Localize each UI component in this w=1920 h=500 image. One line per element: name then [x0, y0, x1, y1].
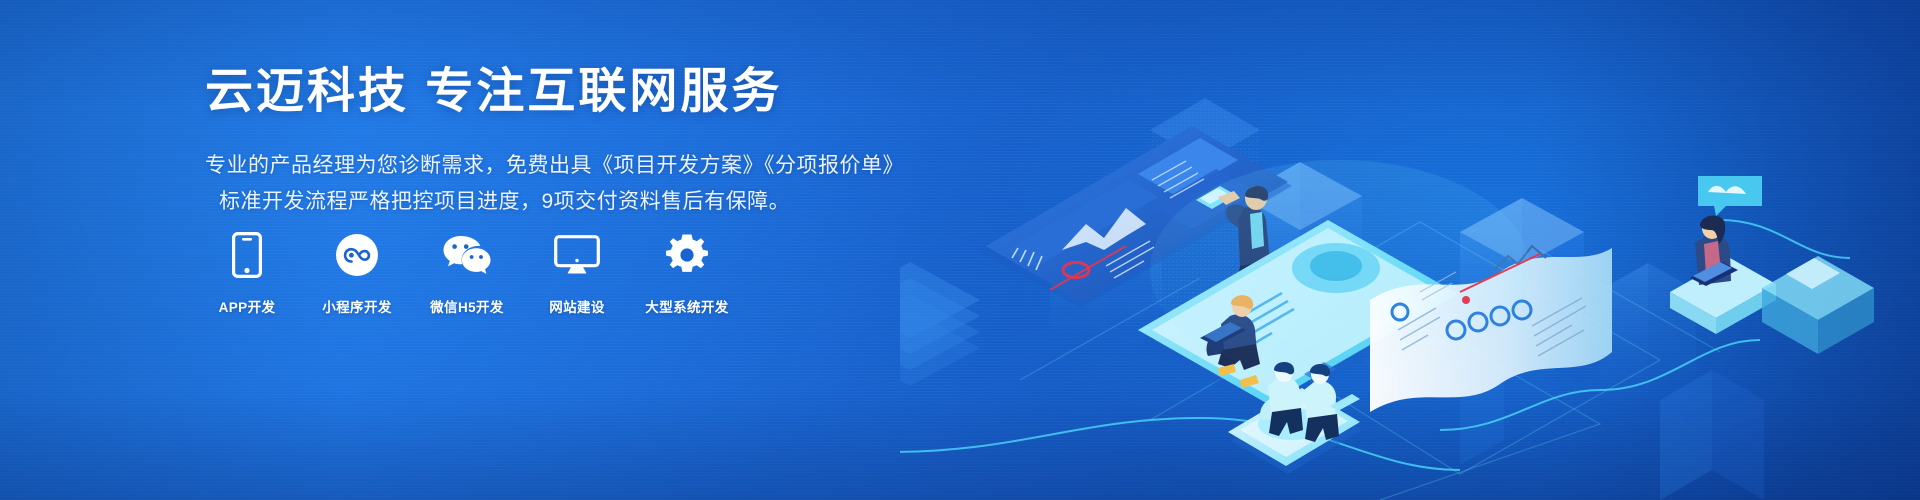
- service-label: 网站建设: [549, 296, 605, 316]
- person-presenter: [1218, 186, 1271, 292]
- subtitle-line-1: 专业的产品经理为您诊断需求，免费出具《项目开发方案》《分项报价单》: [205, 148, 905, 184]
- person-pair-pad: [1228, 362, 1362, 474]
- service-item-mini-program[interactable]: 小程序开发: [315, 230, 399, 316]
- skyline-far: [900, 98, 1764, 500]
- ground-grid: [1020, 222, 1720, 500]
- service-item-website[interactable]: 网站建设: [535, 230, 619, 316]
- pedestal-cubes: [1762, 256, 1874, 354]
- service-item-large-system[interactable]: 大型系统开发: [645, 230, 729, 316]
- report-sheet: [1370, 246, 1612, 412]
- service-item-wechat-h5[interactable]: 微信H5开发: [425, 230, 509, 316]
- person-laptop: [1200, 295, 1260, 388]
- hero-illustration: [900, 0, 1920, 500]
- mini-program-icon: [335, 230, 379, 280]
- service-item-app[interactable]: APP开发: [205, 230, 289, 316]
- service-list: APP开发 小程序开发: [205, 230, 729, 316]
- service-label: 大型系统开发: [645, 296, 728, 316]
- tablet-platform: [1138, 220, 1460, 414]
- service-label: APP开发: [219, 296, 276, 316]
- mobile-phone-icon: [232, 230, 262, 280]
- person-chat: [1670, 176, 1776, 334]
- hero-subtitle: 专业的产品经理为您诊断需求，免费出具《项目开发方案》《分项报价单》 标准开发流程…: [205, 148, 905, 220]
- dashboard-monitor: [978, 126, 1292, 308]
- hero-banner: 云迈科技 专注互联网服务 专业的产品经理为您诊断需求，免费出具《项目开发方案》《…: [0, 0, 1920, 500]
- wechat-icon: [442, 230, 492, 280]
- service-label: 微信H5开发: [430, 296, 504, 316]
- gear-icon: [665, 230, 709, 280]
- subtitle-line-2: 标准开发流程严格把控项目进度，9项交付资料售后有保障。: [205, 184, 905, 220]
- page-title: 云迈科技 专注互联网服务: [205, 62, 905, 122]
- glow-paths: [900, 220, 1850, 470]
- service-label: 小程序开发: [322, 296, 392, 316]
- hero-copy: 云迈科技 专注互联网服务 专业的产品经理为您诊断需求，免费出具《项目开发方案》《…: [205, 62, 905, 220]
- monitor-icon: [554, 230, 600, 280]
